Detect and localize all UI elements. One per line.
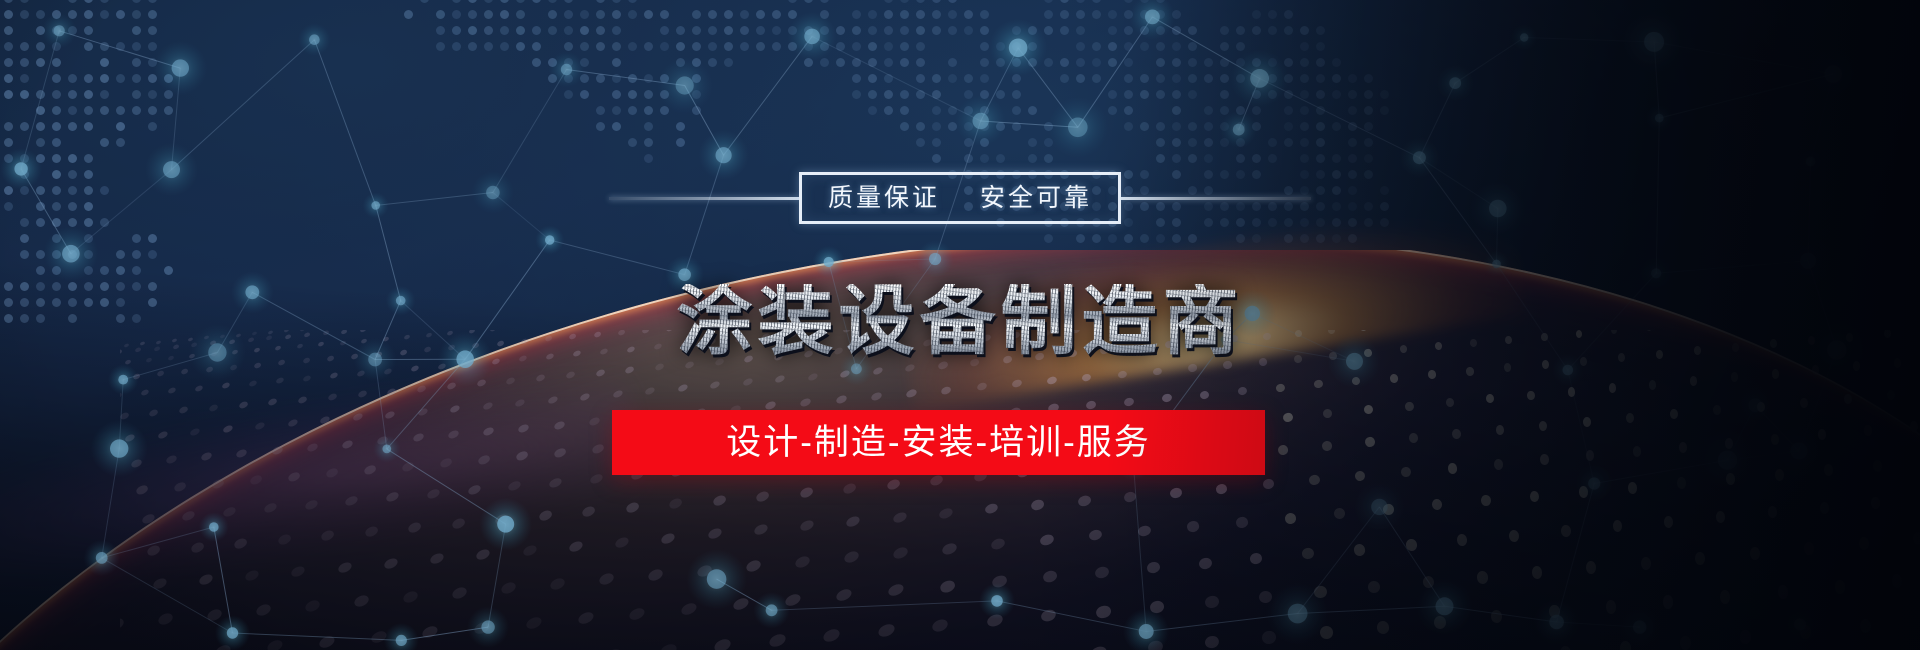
tagline-rule-left bbox=[609, 197, 799, 200]
cta-bar[interactable]: 设计-制造-安装-培训-服务 bbox=[612, 410, 1265, 475]
tagline-rule-right bbox=[1121, 197, 1311, 200]
tagline-right-text: 安全可靠 bbox=[980, 186, 1092, 211]
tagline-left-text: 质量保证 bbox=[828, 186, 940, 211]
banner-content: 质量保证 安全可靠 涂装设备制造商 涂装设备制造商 设计-制造-安装-培训-服务 bbox=[0, 0, 1920, 650]
tagline-row: 质量保证 安全可靠 bbox=[0, 172, 1920, 224]
cta-label: 设计-制造-安装-培训-服务 bbox=[726, 425, 1151, 460]
tagline-box: 质量保证 安全可靠 bbox=[799, 172, 1121, 224]
hero-banner: 质量保证 安全可靠 涂装设备制造商 涂装设备制造商 设计-制造-安装-培训-服务 bbox=[0, 0, 1920, 650]
page-title: 涂装设备制造商 bbox=[0, 284, 1920, 360]
